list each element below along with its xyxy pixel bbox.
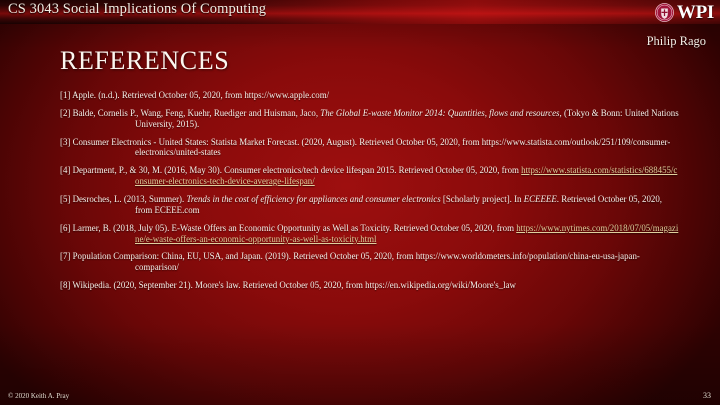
reference-text: Balde, Cornelis P., Wang, Feng, Kuehr, R…	[73, 108, 321, 118]
reference-item: [6] Larmer, B. (2018, July 05). E-Waste …	[60, 223, 680, 245]
reference-text: Apple. (n.d.). Retrieved October 05, 202…	[72, 90, 329, 100]
reference-title-italic: Trends in the cost of efficiency for app…	[186, 194, 440, 204]
reference-number: [3]	[60, 137, 73, 147]
reference-number: [8]	[60, 280, 72, 290]
wpi-logo: WPI	[655, 0, 714, 24]
page-title: REFERENCES	[60, 46, 229, 76]
reference-title-italic: ECEEEE	[524, 194, 557, 204]
reference-item: [4] Department, P., & 30, M. (2016, May …	[60, 165, 680, 187]
presentation-slide: CS 3043 Social Implications Of Computing…	[0, 0, 720, 405]
wpi-wordmark: WPI	[677, 3, 714, 22]
reference-text: Population Comparison: China, EU, USA, a…	[73, 251, 640, 272]
reference-text: Larmer, B. (2018, July 05). E-Waste Offe…	[73, 223, 517, 233]
reference-item: [7] Population Comparison: China, EU, US…	[60, 251, 680, 273]
reference-number: [2]	[60, 108, 73, 118]
reference-number: [7]	[60, 251, 73, 261]
reference-number: [6]	[60, 223, 73, 233]
wpi-seal-icon	[655, 3, 674, 22]
slide-number: 33	[703, 391, 711, 400]
reference-text: Consumer Electronics - United States: St…	[73, 137, 671, 158]
reference-number: [4]	[60, 165, 73, 175]
reference-item: [1] Apple. (n.d.). Retrieved October 05,…	[60, 90, 680, 101]
reference-text: Desroches, L. (2013, Summer).	[73, 194, 187, 204]
references-list: [1] Apple. (n.d.). Retrieved October 05,…	[60, 90, 680, 298]
reference-text: [Scholarly project]. In	[441, 194, 524, 204]
reference-item: [2] Balde, Cornelis P., Wang, Feng, Kueh…	[60, 108, 680, 130]
reference-text: Department, P., & 30, M. (2016, May 30).…	[73, 165, 522, 175]
reference-title-italic: The Global E-waste Monitor 2014: Quantit…	[320, 108, 559, 118]
reference-item: [3] Consumer Electronics - United States…	[60, 137, 680, 159]
reference-number: [5]	[60, 194, 73, 204]
copyright-notice: © 2020 Keith A. Pray	[8, 392, 69, 400]
reference-text: Wikipedia. (2020, September 21). Moore's…	[72, 280, 516, 290]
course-title: CS 3043 Social Implications Of Computing	[8, 1, 266, 18]
reference-item: [8] Wikipedia. (2020, September 21). Moo…	[60, 280, 680, 291]
author-name: Philip Rago	[647, 34, 706, 49]
reference-item: [5] Desroches, L. (2013, Summer). Trends…	[60, 194, 680, 216]
reference-number: [1]	[60, 90, 72, 100]
